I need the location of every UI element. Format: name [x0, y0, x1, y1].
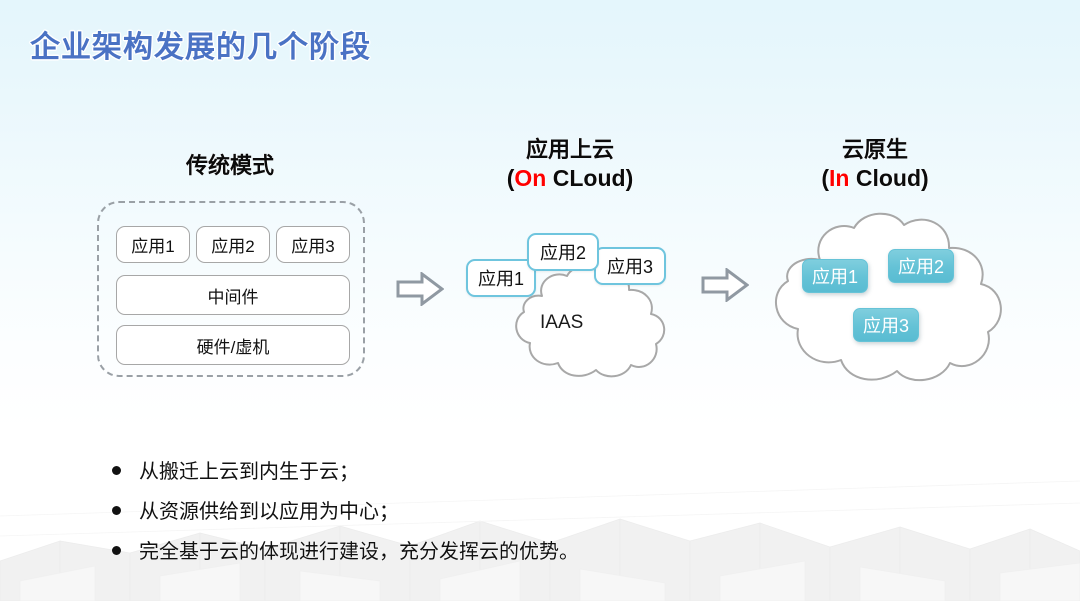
on-cloud-app-chip-3: 应用3: [594, 247, 666, 285]
stage-heading-traditional: 传统模式: [110, 151, 350, 180]
arrow-right-icon-2: [701, 268, 749, 302]
bullet-dot-icon: [112, 466, 121, 475]
bullet-text-2: 从资源供给到以应用为中心；: [139, 495, 399, 524]
in-cloud-app-chip-2: 应用2: [888, 249, 954, 283]
traditional-hardware-row: 硬件/虚机: [116, 325, 350, 365]
cloud-native-cloud-icon: [758, 208, 1012, 388]
traditional-app-row: 应用1 应用2 应用3: [116, 226, 350, 263]
bullet-dot-icon: [112, 546, 121, 555]
traditional-app-box-2: 应用2: [196, 226, 270, 263]
in-cloud-app-chip-3: 应用3: [853, 308, 919, 342]
traditional-app-box-3: 应用3: [276, 226, 350, 263]
traditional-architecture-group: 应用1 应用2 应用3 中间件 硬件/虚机: [97, 201, 365, 377]
in-cloud-rest: Cloud): [849, 165, 928, 191]
bullet-dot-icon: [112, 506, 121, 515]
page-title: 企业架构发展的几个阶段: [30, 22, 371, 66]
traditional-app-box-1: 应用1: [116, 226, 190, 263]
stage-heading-in-cloud-cn: 云原生: [755, 135, 995, 164]
stage-heading-on-cloud: 应用上云 (On CLoud): [450, 135, 690, 193]
on-cloud-rest: CLoud): [546, 165, 633, 191]
stage-heading-traditional-label: 传统模式: [186, 153, 274, 178]
in-cloud-paren-open: (: [821, 165, 829, 191]
list-item: 从搬迁上云到内生于云；: [112, 455, 752, 484]
stage-heading-on-cloud-cn: 应用上云: [450, 135, 690, 164]
traditional-middleware-row: 中间件: [116, 275, 350, 315]
arrow-right-icon-1: [396, 272, 444, 306]
stage-heading-in-cloud-en: (In Cloud): [755, 164, 995, 193]
bullet-list: 从搬迁上云到内生于云； 从资源供给到以应用为中心； 完全基于云的体现进行建设，充…: [112, 455, 752, 575]
iaas-cloud-label: IAAS: [540, 312, 583, 334]
bullet-text-3: 完全基于云的体现进行建设，充分发挥云的优势。: [139, 535, 579, 564]
slide-canvas: 企业架构发展的几个阶段 传统模式 应用1 应用2 应用3 中间件 硬件/虚机 应…: [0, 0, 1080, 601]
in-cloud-keyword: In: [829, 165, 849, 191]
on-cloud-keyword: On: [514, 165, 546, 191]
traditional-middleware-box: 中间件: [116, 275, 350, 315]
in-cloud-app-chip-1: 应用1: [802, 259, 868, 293]
traditional-hardware-box: 硬件/虚机: [116, 325, 350, 365]
stage-heading-on-cloud-en: (On CLoud): [450, 164, 690, 193]
on-cloud-app-chip-2: 应用2: [527, 233, 599, 271]
list-item: 从资源供给到以应用为中心；: [112, 495, 752, 524]
list-item: 完全基于云的体现进行建设，充分发挥云的优势。: [112, 535, 752, 564]
bullet-text-1: 从搬迁上云到内生于云；: [139, 455, 359, 484]
stage-heading-in-cloud: 云原生 (In Cloud): [755, 135, 995, 193]
on-cloud-app-chip-1: 应用1: [466, 259, 536, 297]
